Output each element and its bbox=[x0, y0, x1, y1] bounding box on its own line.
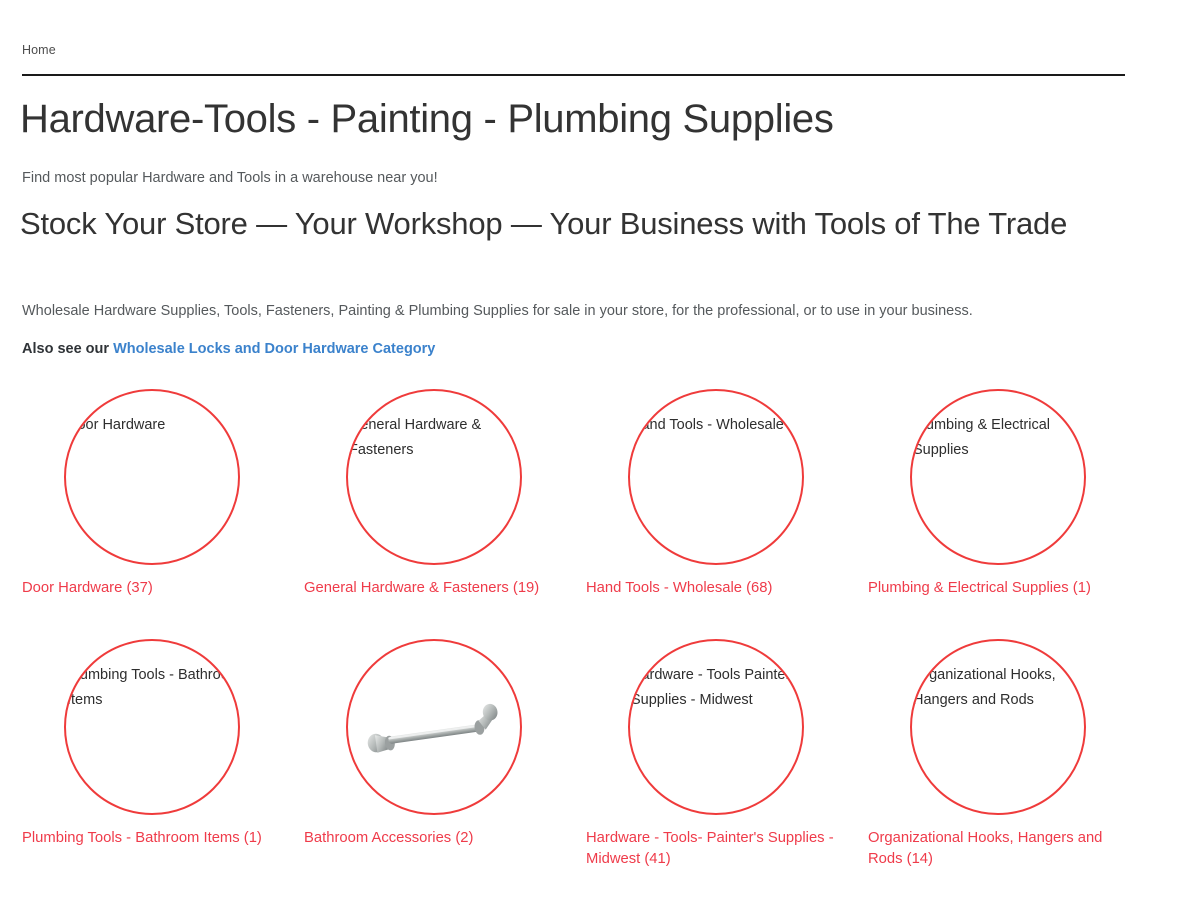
category-thumb[interactable]: Door Hardware bbox=[22, 386, 304, 568]
category-cell-general-hardware-fasteners: General Hardware & Fasteners General Har… bbox=[304, 386, 586, 636]
also-see-line: Also see our Wholesale Locks and Door Ha… bbox=[22, 339, 435, 359]
page-subheading: Stock Your Store — Your Workshop — Your … bbox=[20, 204, 1080, 244]
category-cell-bathroom-accessories: Bathroom Accessories (2) bbox=[304, 636, 586, 886]
category-link[interactable]: Plumbing & Electrical Supplies (1) bbox=[868, 578, 1136, 599]
category-grid: Door Hardware Door Hardware (37) General… bbox=[22, 386, 1142, 886]
category-cell-hardware-tools-painters-supplies-midwest: Hardware - Tools Painter's Supplies - Mi… bbox=[586, 636, 868, 886]
category-cell-organizational-hooks-hangers-rods: Organizational Hooks, Hangers and Rods O… bbox=[868, 636, 1150, 886]
broken-image-alt-text: Hardware - Tools Painter's Supplies - Mi… bbox=[631, 663, 804, 712]
circle-frame: Hardware - Tools Painter's Supplies - Mi… bbox=[628, 639, 804, 815]
circle-frame bbox=[346, 639, 522, 815]
circle-frame: Hand Tools - Wholesale bbox=[628, 389, 804, 565]
category-cell-hand-tools-wholesale: Hand Tools - Wholesale Hand Tools - Whol… bbox=[586, 386, 868, 636]
broken-image-alt-text: Door Hardware bbox=[67, 413, 240, 438]
category-thumb[interactable]: Organizational Hooks, Hangers and Rods bbox=[868, 636, 1150, 818]
category-thumb[interactable]: Hand Tools - Wholesale bbox=[586, 386, 868, 568]
broken-image-alt-text: Hand Tools - Wholesale bbox=[631, 413, 804, 438]
page-body-copy: Wholesale Hardware Supplies, Tools, Fast… bbox=[22, 301, 1142, 321]
category-thumb[interactable]: General Hardware & Fasteners bbox=[304, 386, 586, 568]
also-see-link-locks-door-hardware[interactable]: Wholesale Locks and Door Hardware Catego… bbox=[113, 341, 435, 357]
circle-frame: Plumbing & Electrical Supplies bbox=[910, 389, 1086, 565]
broken-image-alt-text: General Hardware & Fasteners bbox=[349, 413, 522, 462]
circle-frame: Plumbing Tools - Bathroom Items bbox=[64, 639, 240, 815]
category-link[interactable]: Door Hardware (37) bbox=[22, 578, 290, 599]
page-lede: Find most popular Hardware and Tools in … bbox=[22, 168, 1122, 188]
category-grid-row: Door Hardware Door Hardware (37) General… bbox=[22, 386, 1142, 636]
circle-frame: Door Hardware bbox=[64, 389, 240, 565]
breadcrumb-item-home[interactable]: Home bbox=[22, 43, 56, 57]
category-link[interactable]: General Hardware & Fasteners (19) bbox=[304, 578, 572, 599]
towel-bar-product-image bbox=[348, 641, 520, 813]
category-cell-plumbing-tools-bathroom-items: Plumbing Tools - Bathroom Items Plumbing… bbox=[22, 636, 304, 886]
category-thumb[interactable]: Plumbing & Electrical Supplies bbox=[868, 386, 1150, 568]
circle-frame: Organizational Hooks, Hangers and Rods bbox=[910, 639, 1086, 815]
category-grid-row: Plumbing Tools - Bathroom Items Plumbing… bbox=[22, 636, 1142, 886]
broken-image-alt-text: Plumbing Tools - Bathroom Items bbox=[67, 663, 240, 712]
category-cell-door-hardware: Door Hardware Door Hardware (37) bbox=[22, 386, 304, 636]
category-thumb[interactable]: Hardware - Tools Painter's Supplies - Mi… bbox=[586, 636, 868, 818]
category-link[interactable]: Bathroom Accessories (2) bbox=[304, 828, 572, 849]
breadcrumb: Home bbox=[22, 43, 56, 57]
category-thumb[interactable] bbox=[304, 636, 586, 818]
category-landing-page: Home Hardware-Tools - Painting - Plumbin… bbox=[0, 0, 1200, 909]
header-divider bbox=[22, 74, 1125, 76]
circle-frame: General Hardware & Fasteners bbox=[346, 389, 522, 565]
page-title: Hardware-Tools - Painting - Plumbing Sup… bbox=[20, 97, 1140, 142]
category-link[interactable]: Organizational Hooks, Hangers and Rods (… bbox=[868, 828, 1136, 869]
category-link[interactable]: Hardware - Tools- Painter's Supplies - M… bbox=[586, 828, 854, 869]
category-link[interactable]: Plumbing Tools - Bathroom Items (1) bbox=[22, 828, 290, 849]
category-cell-plumbing-electrical-supplies: Plumbing & Electrical Supplies Plumbing … bbox=[868, 386, 1150, 636]
category-link[interactable]: Hand Tools - Wholesale (68) bbox=[586, 578, 854, 599]
broken-image-alt-text: Organizational Hooks, Hangers and Rods bbox=[913, 663, 1086, 712]
also-see-label: Also see our bbox=[22, 341, 109, 357]
category-thumb[interactable]: Plumbing Tools - Bathroom Items bbox=[22, 636, 304, 818]
broken-image-alt-text: Plumbing & Electrical Supplies bbox=[913, 413, 1086, 462]
